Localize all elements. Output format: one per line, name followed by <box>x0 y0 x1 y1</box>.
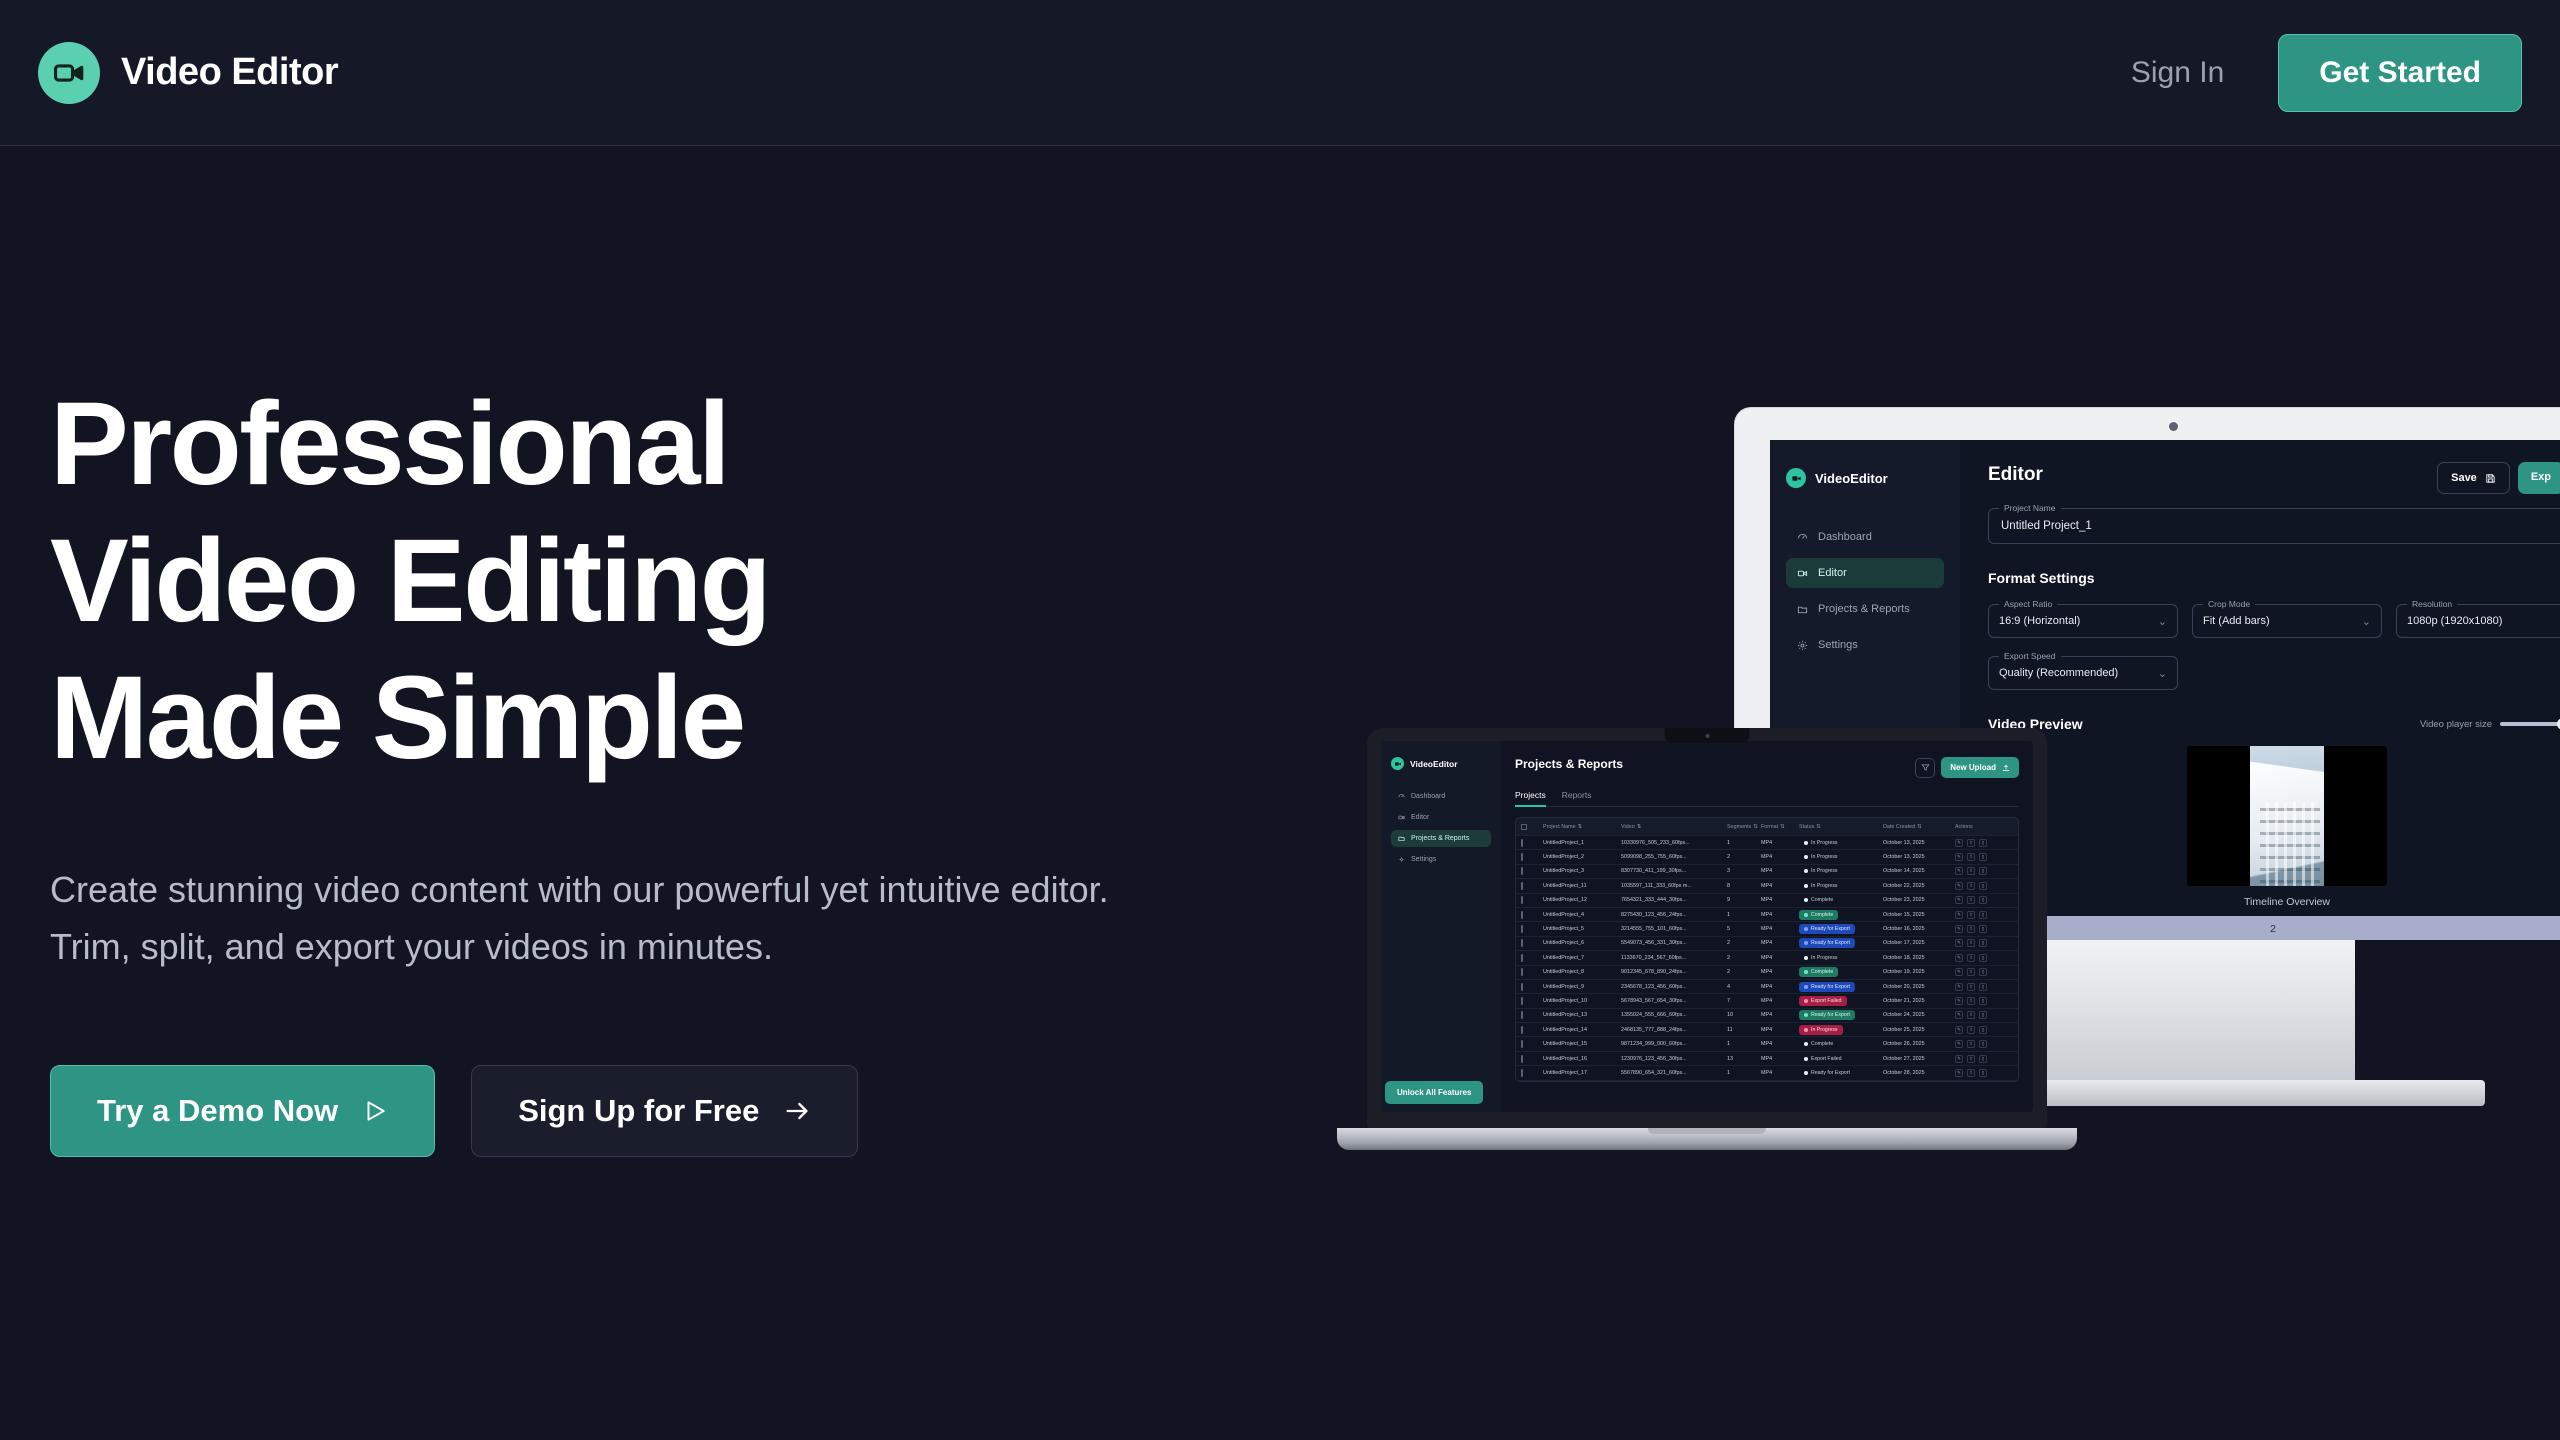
edit-icon[interactable]: ✎ <box>1955 882 1963 890</box>
cell-status: In Progress <box>1799 953 1883 963</box>
status-badge: Export Failed <box>1799 996 1847 1006</box>
table-header-row: Project Name⇅ Video⇅ Segments⇅ Format⇅ S… <box>1516 818 2018 836</box>
checkbox-icon[interactable] <box>1521 1040 1523 1048</box>
edit-icon[interactable]: ✎ <box>1955 1040 1963 1048</box>
save-label: Save <box>2451 472 2477 484</box>
delete-icon[interactable]: ▯ <box>1979 939 1987 947</box>
export-speed-value: Quality (Recommended) <box>1999 667 2118 679</box>
checkbox-icon[interactable] <box>1521 983 1523 991</box>
cell-date-created: October 13, 2025 <box>1883 840 1955 846</box>
row-checkbox[interactable] <box>1521 868 1543 874</box>
checkbox-icon[interactable] <box>1521 882 1523 890</box>
play-triangle-icon <box>362 1098 388 1124</box>
status-dot-icon <box>1804 869 1808 873</box>
sort-icon[interactable]: ⇅ <box>1637 824 1642 830</box>
table-row[interactable]: UntitledProject_111035597_111_333_60fps … <box>1516 879 2018 893</box>
export-icon[interactable]: ⇪ <box>1967 1026 1975 1034</box>
status-dot-icon <box>1804 1028 1808 1032</box>
export-icon[interactable]: ⇪ <box>1967 896 1975 904</box>
cell-format: MP4 <box>1761 998 1799 1004</box>
cell-video: 3214555_755_101_60fps... <box>1621 926 1727 932</box>
export-button[interactable]: Exp <box>2518 462 2560 494</box>
cell-status: In Progress <box>1799 852 1883 862</box>
cell-video: 9012345_678_890_24fps... <box>1621 969 1727 975</box>
status-badge: Complete <box>1799 910 1838 920</box>
brand-name: Video Editor <box>121 51 338 94</box>
row-checkbox[interactable] <box>1521 998 1543 1004</box>
monitor-top-actions: Save Exp <box>2437 462 2560 494</box>
checkbox-icon[interactable] <box>1521 824 1527 830</box>
column-actions: Actions <box>1955 824 2011 830</box>
table-row[interactable]: UntitledProject_105678943_567_654_30fps.… <box>1516 994 2018 1008</box>
laptop-page-title: Projects & Reports <box>1515 757 1623 771</box>
status-label: Ready for Export <box>1811 940 1850 946</box>
checkbox-icon[interactable] <box>1521 925 1523 933</box>
sort-icon[interactable]: ⇅ <box>1816 824 1821 830</box>
status-dot-icon <box>1804 927 1808 931</box>
get-started-button[interactable]: Get Started <box>2278 34 2522 112</box>
checkbox-icon[interactable] <box>1521 1069 1523 1077</box>
table-row[interactable]: UntitledProject_127654321_333_444_30fps.… <box>1516 894 2018 908</box>
unlock-all-features-button[interactable]: Unlock All Features <box>1385 1081 1483 1104</box>
cell-segments: 1 <box>1727 912 1761 918</box>
checkbox-icon[interactable] <box>1521 1026 1523 1034</box>
cell-date-created: October 28, 2025 <box>1883 1070 1955 1076</box>
laptop-app-main: Projects & Reports New Upload <box>1501 741 2033 1112</box>
status-dot-icon <box>1804 913 1808 917</box>
edit-icon[interactable]: ✎ <box>1955 911 1963 919</box>
delete-icon[interactable]: ▯ <box>1979 1011 1987 1019</box>
edit-icon[interactable]: ✎ <box>1955 839 1963 847</box>
cell-date-created: October 17, 2025 <box>1883 940 1955 946</box>
project-name-value: Untitled Project_1 <box>2001 520 2092 532</box>
column-label: Project Name <box>1543 824 1576 830</box>
export-icon[interactable]: ⇪ <box>1967 911 1975 919</box>
cell-actions: ✎⇪▯ <box>1955 882 2011 890</box>
status-dot-icon <box>1804 1042 1808 1046</box>
cell-video: 8307730_411_199_30fps... <box>1621 868 1727 874</box>
status-label: Complete <box>1811 969 1833 975</box>
delete-icon[interactable]: ▯ <box>1979 839 1987 847</box>
cell-actions: ✎⇪▯ <box>1955 896 2011 904</box>
hero-subtitle: Create stunning video content with our p… <box>50 862 1150 976</box>
status-badge: Ready for Export <box>1799 1010 1855 1020</box>
row-checkbox[interactable] <box>1521 1056 1543 1062</box>
video-camera-icon <box>1786 468 1806 488</box>
cell-segments: 10 <box>1727 1012 1761 1018</box>
sidebar-item-dashboard[interactable]: Dashboard <box>1391 788 1491 805</box>
hero-section: Professional Video Editing Made Simple C… <box>0 146 1250 1157</box>
status-dot-icon <box>1804 1071 1808 1075</box>
cell-format: MP4 <box>1761 940 1799 946</box>
cell-actions: ✎⇪▯ <box>1955 1055 2011 1063</box>
sign-up-button[interactable]: Sign Up for Free <box>471 1065 858 1157</box>
delete-icon[interactable]: ▯ <box>1979 925 1987 933</box>
sidebar-item-label: Settings <box>1411 856 1436 863</box>
column-label: Video <box>1621 824 1635 830</box>
status-badge: In Progress <box>1799 881 1843 891</box>
status-label: In Progress <box>1811 868 1838 874</box>
chevron-down-icon: ⌄ <box>2158 667 2167 680</box>
status-badge: Complete <box>1799 895 1838 905</box>
gear-icon <box>1797 640 1808 651</box>
status-label: Complete <box>1811 912 1833 918</box>
cell-segments: 5 <box>1727 926 1761 932</box>
cell-actions: ✎⇪▯ <box>1955 1011 2011 1019</box>
player-size-control[interactable]: Video player size <box>2420 719 2560 730</box>
gear-icon <box>1398 856 1405 863</box>
monitor-stand-neck <box>1995 928 2355 1080</box>
video-camera-icon <box>1391 757 1404 770</box>
cell-actions: ✎⇪▯ <box>1955 997 2011 1005</box>
cell-format: MP4 <box>1761 984 1799 990</box>
arrow-right-icon <box>783 1097 811 1125</box>
column-segments[interactable]: Segments⇅ <box>1727 824 1761 830</box>
sidebar-item-projects-reports[interactable]: Projects & Reports <box>1391 830 1491 847</box>
aspect-ratio-label: Aspect Ratio <box>1999 599 2057 609</box>
edit-icon[interactable]: ✎ <box>1955 1011 1963 1019</box>
video-camera-icon <box>1398 814 1405 821</box>
status-dot-icon <box>1804 1057 1808 1061</box>
column-label: Format <box>1761 824 1778 830</box>
export-icon[interactable]: ⇪ <box>1967 839 1975 847</box>
floppy-disk-icon <box>2485 473 2496 484</box>
cell-date-created: October 14, 2025 <box>1883 868 1955 874</box>
cell-project-name: UntitledProject_2 <box>1543 854 1621 860</box>
table-row[interactable]: UntitledProject_25099098_255_755_60fps..… <box>1516 850 2018 864</box>
player-size-label: Video player size <box>2420 719 2492 730</box>
resolution-label: Resolution <box>2407 599 2457 609</box>
checkbox-icon[interactable] <box>1521 839 1523 847</box>
cell-actions: ✎⇪▯ <box>1955 968 2011 976</box>
checkbox-icon[interactable] <box>1521 968 1523 976</box>
export-icon[interactable]: ⇪ <box>1967 968 1975 976</box>
table-row[interactable]: UntitledProject_71133670_234_567_60fps..… <box>1516 951 2018 965</box>
delete-icon[interactable]: ▯ <box>1979 997 1987 1005</box>
export-speed-select[interactable]: Export Speed Quality (Recommended) ⌄ <box>1988 656 2178 690</box>
delete-icon[interactable]: ▯ <box>1979 867 1987 875</box>
site-header: Video Editor Sign In Get Started <box>0 0 2560 146</box>
cell-status: Complete <box>1799 895 1883 905</box>
laptop-trackpad-notch <box>1648 1128 1766 1134</box>
folder-icon <box>1398 835 1405 842</box>
cell-video: 9871234_999_000_60fps... <box>1621 1041 1727 1047</box>
cell-format: MP4 <box>1761 1012 1799 1018</box>
cell-actions: ✎⇪▯ <box>1955 853 2011 861</box>
cell-segments: 1 <box>1727 1041 1761 1047</box>
row-checkbox[interactable] <box>1521 1012 1543 1018</box>
aspect-ratio-value: 16:9 (Horizontal) <box>1999 615 2080 627</box>
gauge-icon <box>1398 793 1405 800</box>
resolution-value: 1080p (1920x1080) <box>2407 615 2502 627</box>
sort-icon[interactable]: ⇅ <box>1753 824 1758 830</box>
delete-icon[interactable]: ▯ <box>1979 882 1987 890</box>
edit-icon[interactable]: ✎ <box>1955 1026 1963 1034</box>
cell-status: In Progress <box>1799 838 1883 848</box>
edit-icon[interactable]: ✎ <box>1955 925 1963 933</box>
status-label: In Progress <box>1811 883 1838 889</box>
edit-icon[interactable]: ✎ <box>1955 983 1963 991</box>
cell-video: 2345678_123_456_60fps... <box>1621 984 1727 990</box>
column-label: Actions <box>1955 824 1973 830</box>
tab-projects[interactable]: Projects <box>1515 790 1546 800</box>
cell-segments: 8 <box>1727 883 1761 889</box>
cell-segments: 1 <box>1727 1070 1761 1076</box>
status-badge: Ready for Export <box>1799 1068 1855 1078</box>
table-row[interactable]: UntitledProject_89012345_678_890_24fps..… <box>1516 966 2018 980</box>
row-checkbox[interactable] <box>1521 984 1543 990</box>
edit-icon[interactable]: ✎ <box>1955 997 1963 1005</box>
column-label: Segments <box>1727 824 1751 830</box>
export-icon[interactable]: ⇪ <box>1967 997 1975 1005</box>
cell-project-name: UntitledProject_6 <box>1543 940 1621 946</box>
aspect-ratio-select[interactable]: Aspect Ratio 16:9 (Horizontal) ⌄ <box>1988 604 2178 638</box>
delete-icon[interactable]: ▯ <box>1979 896 1987 904</box>
status-label: Ready for Export <box>1811 1012 1850 1018</box>
laptop-mockup: VideoEditor Dashboard Editor <box>1367 728 2047 1150</box>
laptop-screen: VideoEditor Dashboard Editor <box>1381 741 2033 1112</box>
column-video[interactable]: Video⇅ <box>1621 824 1727 830</box>
table-row[interactable]: UntitledProject_131355024_555_666_60fps.… <box>1516 1009 2018 1023</box>
format-settings-row-2: Export Speed Quality (Recommended) ⌄ <box>1988 656 2560 690</box>
export-icon[interactable]: ⇪ <box>1967 1069 1975 1077</box>
edit-icon[interactable]: ✎ <box>1955 896 1963 904</box>
delete-icon[interactable]: ▯ <box>1979 983 1987 991</box>
table-row[interactable]: UntitledProject_110330976_505_233_60fps.… <box>1516 836 2018 850</box>
checkbox-icon[interactable] <box>1521 911 1523 919</box>
crop-mode-select[interactable]: Crop Mode Fit (Add bars) ⌄ <box>2192 604 2382 638</box>
brand[interactable]: Video Editor <box>38 42 338 104</box>
cell-actions: ✎⇪▯ <box>1955 925 2011 933</box>
sidebar-item-dashboard[interactable]: Dashboard <box>1786 522 1944 552</box>
edit-icon[interactable]: ✎ <box>1955 968 1963 976</box>
save-button[interactable]: Save <box>2437 462 2510 494</box>
row-checkbox[interactable] <box>1521 969 1543 975</box>
status-label: In Progress <box>1811 1027 1838 1033</box>
export-icon[interactable]: ⇪ <box>1967 867 1975 875</box>
cell-video: 1133670_234_567_60fps... <box>1621 955 1727 961</box>
checkbox-icon[interactable] <box>1521 896 1523 904</box>
export-icon[interactable]: ⇪ <box>1967 1011 1975 1019</box>
cell-video: 1355024_555_666_60fps... <box>1621 1012 1727 1018</box>
table-row[interactable]: UntitledProject_161230976_123_456_30fps.… <box>1516 1052 2018 1066</box>
export-icon[interactable]: ⇪ <box>1967 853 1975 861</box>
hero-title-line-1: Professional <box>50 376 1250 513</box>
cell-segments: 7 <box>1727 998 1761 1004</box>
status-label: Export Failed <box>1811 998 1842 1004</box>
cell-segments: 11 <box>1727 1027 1761 1033</box>
sidebar-item-settings[interactable]: Settings <box>1786 630 1944 660</box>
row-checkbox[interactable] <box>1521 854 1543 860</box>
video-preview-player[interactable] <box>2187 746 2387 886</box>
export-icon[interactable]: ⇪ <box>1967 925 1975 933</box>
status-badge: In Progress <box>1799 838 1843 848</box>
column-format[interactable]: Format⇅ <box>1761 824 1799 830</box>
delete-icon[interactable]: ▯ <box>1979 1069 1987 1077</box>
checkbox-icon[interactable] <box>1521 939 1523 947</box>
status-badge: In Progress <box>1799 866 1843 876</box>
sidebar-item-label: Projects & Reports <box>1818 603 1910 615</box>
sort-icon[interactable]: ⇅ <box>1578 824 1583 830</box>
new-upload-button[interactable]: New Upload <box>1941 757 2019 778</box>
checkbox-icon[interactable] <box>1521 853 1523 861</box>
format-settings-row-1: Aspect Ratio 16:9 (Horizontal) ⌄ Crop Mo… <box>1988 604 2560 638</box>
checkbox-icon[interactable] <box>1521 954 1523 962</box>
edit-icon[interactable]: ✎ <box>1955 954 1963 962</box>
sidebar-item-editor[interactable]: Editor <box>1391 809 1491 826</box>
export-icon[interactable]: ⇪ <box>1967 954 1975 962</box>
row-checkbox[interactable] <box>1521 883 1543 889</box>
sign-in-link[interactable]: Sign In <box>2131 56 2224 90</box>
status-dot-icon <box>1804 855 1808 859</box>
export-speed-label: Export Speed <box>1999 651 2061 661</box>
status-badge: Ready for Export <box>1799 982 1855 992</box>
cell-segments: 9 <box>1727 897 1761 903</box>
cell-actions: ✎⇪▯ <box>1955 911 2011 919</box>
row-checkbox[interactable] <box>1521 940 1543 946</box>
laptop-app-sidebar: VideoEditor Dashboard Editor <box>1381 741 1501 1112</box>
edit-icon[interactable]: ✎ <box>1955 1069 1963 1077</box>
cell-project-name: UntitledProject_14 <box>1543 1027 1621 1033</box>
row-checkbox[interactable] <box>1521 1070 1543 1076</box>
export-icon[interactable]: ⇪ <box>1967 882 1975 890</box>
cell-date-created: October 15, 2025 <box>1883 912 1955 918</box>
delete-icon[interactable]: ▯ <box>1979 853 1987 861</box>
cell-project-name: UntitledProject_8 <box>1543 969 1621 975</box>
try-demo-button[interactable]: Try a Demo Now <box>50 1065 435 1157</box>
column-date-created[interactable]: Date Created⇅ <box>1883 824 1955 830</box>
delete-icon[interactable]: ▯ <box>1979 968 1987 976</box>
row-checkbox[interactable] <box>1521 1041 1543 1047</box>
cell-date-created: October 22, 2025 <box>1883 883 1955 889</box>
sidebar-item-label: Dashboard <box>1818 531 1872 543</box>
cell-video: 5549073_456_331_30fps... <box>1621 940 1727 946</box>
delete-icon[interactable]: ▯ <box>1979 1026 1987 1034</box>
chevron-down-icon: ⌄ <box>2158 615 2167 628</box>
checkbox-icon[interactable] <box>1521 997 1523 1005</box>
status-badge: In Progress <box>1799 953 1843 963</box>
export-icon[interactable]: ⇪ <box>1967 1040 1975 1048</box>
row-checkbox[interactable] <box>1521 912 1543 918</box>
table-row[interactable]: UntitledProject_53214555_755_101_60fps..… <box>1516 922 2018 936</box>
row-checkbox[interactable] <box>1521 955 1543 961</box>
sort-icon[interactable]: ⇅ <box>1780 824 1785 830</box>
monitor-app-nav: Dashboard Editor Projects & Reports <box>1786 522 1944 660</box>
status-label: In Progress <box>1811 840 1838 846</box>
funnel-icon[interactable] <box>1915 758 1935 778</box>
checkbox-icon[interactable] <box>1521 1055 1523 1063</box>
row-checkbox[interactable] <box>1521 926 1543 932</box>
cell-video: 5567890_654_321_60fps... <box>1621 1070 1727 1076</box>
sidebar-item-editor[interactable]: Editor <box>1786 558 1944 588</box>
delete-icon[interactable]: ▯ <box>1979 1040 1987 1048</box>
cell-project-name: UntitledProject_3 <box>1543 868 1621 874</box>
table-row[interactable]: UntitledProject_142468135_777_888_24fps.… <box>1516 1023 2018 1037</box>
hero-cta-group: Try a Demo Now Sign Up for Free <box>50 1065 1250 1157</box>
projects-table: Project Name⇅ Video⇅ Segments⇅ Format⇅ S… <box>1515 817 2019 1082</box>
sort-icon[interactable]: ⇅ <box>1917 824 1922 830</box>
table-row[interactable]: UntitledProject_65549073_456_331_30fps..… <box>1516 937 2018 951</box>
row-checkbox[interactable] <box>1521 897 1543 903</box>
status-badge: Complete <box>1799 967 1838 977</box>
sidebar-item-label: Editor <box>1411 814 1429 821</box>
table-row[interactable]: UntitledProject_48275430_123_456_24fps..… <box>1516 908 2018 922</box>
cell-status: Export Failed <box>1799 996 1883 1006</box>
delete-icon[interactable]: ▯ <box>1979 954 1987 962</box>
checkbox-icon[interactable] <box>1521 1011 1523 1019</box>
table-row[interactable]: UntitledProject_38307730_411_199_30fps..… <box>1516 865 2018 879</box>
export-icon[interactable]: ⇪ <box>1967 939 1975 947</box>
page-title: Professional Video Editing Made Simple <box>50 376 1250 787</box>
column-status[interactable]: Status⇅ <box>1799 824 1883 830</box>
delete-icon[interactable]: ▯ <box>1979 1055 1987 1063</box>
timeline-bar[interactable]: 2 <box>1960 916 2560 940</box>
cell-project-name: UntitledProject_11 <box>1543 883 1621 889</box>
select-all-checkbox[interactable] <box>1521 824 1543 830</box>
cell-actions: ✎⇪▯ <box>1955 1026 2011 1034</box>
resolution-select[interactable]: Resolution 1080p (1920x1080) ⌄ <box>2396 604 2560 638</box>
edit-icon[interactable]: ✎ <box>1955 867 1963 875</box>
table-row[interactable]: UntitledProject_175567890_654_321_60fps.… <box>1516 1066 2018 1080</box>
format-settings-heading: Format Settings <box>1988 570 2560 586</box>
table-row[interactable]: UntitledProject_92345678_123_456_60fps..… <box>1516 980 2018 994</box>
export-icon[interactable]: ⇪ <box>1967 983 1975 991</box>
cell-project-name: UntitledProject_17 <box>1543 1070 1621 1076</box>
status-label: In Progress <box>1811 854 1838 860</box>
checkbox-icon[interactable] <box>1521 867 1523 875</box>
status-badge: Ready for Export <box>1799 924 1855 934</box>
table-row[interactable]: UntitledProject_159871234_999_000_60fps.… <box>1516 1037 2018 1051</box>
sidebar-item-label: Editor <box>1818 567 1847 579</box>
edit-icon[interactable]: ✎ <box>1955 853 1963 861</box>
cell-status: Complete <box>1799 1039 1883 1049</box>
sidebar-item-projects-reports[interactable]: Projects & Reports <box>1786 594 1944 624</box>
upload-icon <box>2002 764 2010 772</box>
row-checkbox[interactable] <box>1521 840 1543 846</box>
project-name-field[interactable]: Project Name Untitled Project_1 <box>1988 508 2560 544</box>
project-name-label: Project Name <box>1999 503 2061 513</box>
new-upload-label: New Upload <box>1950 763 1996 772</box>
column-project-name[interactable]: Project Name⇅ <box>1543 824 1621 830</box>
cell-status: In Progress <box>1799 866 1883 876</box>
edit-icon[interactable]: ✎ <box>1955 1055 1963 1063</box>
status-label: Ready for Export <box>1811 984 1850 990</box>
webcam-dot-icon <box>1705 734 1709 738</box>
delete-icon[interactable]: ▯ <box>1979 911 1987 919</box>
edit-icon[interactable]: ✎ <box>1955 939 1963 947</box>
export-icon[interactable]: ⇪ <box>1967 1055 1975 1063</box>
cell-status: Ready for Export <box>1799 982 1883 992</box>
cell-segments: 1 <box>1727 840 1761 846</box>
cell-segments: 2 <box>1727 955 1761 961</box>
sidebar-item-settings[interactable]: Settings <box>1391 851 1491 868</box>
player-size-slider[interactable] <box>2500 722 2560 726</box>
tab-reports[interactable]: Reports <box>1562 790 1592 800</box>
cell-status: In Progress <box>1799 881 1883 891</box>
cell-video: 2468135_777_888_24fps... <box>1621 1027 1727 1033</box>
cell-actions: ✎⇪▯ <box>1955 954 2011 962</box>
status-label: Export Failed <box>1811 1056 1842 1062</box>
timeline-overview-label: Timeline Overview <box>1988 896 2560 908</box>
status-label: Ready for Export <box>1811 926 1850 932</box>
row-checkbox[interactable] <box>1521 1027 1543 1033</box>
status-label: Ready for Export <box>1811 1070 1850 1076</box>
cell-date-created: October 27, 2025 <box>1883 1056 1955 1062</box>
laptop-app-brand: VideoEditor <box>1391 757 1491 770</box>
cell-status: Ready for Export <box>1799 1068 1883 1078</box>
cell-format: MP4 <box>1761 1056 1799 1062</box>
cell-video: 8275430_123_456_24fps... <box>1621 912 1727 918</box>
